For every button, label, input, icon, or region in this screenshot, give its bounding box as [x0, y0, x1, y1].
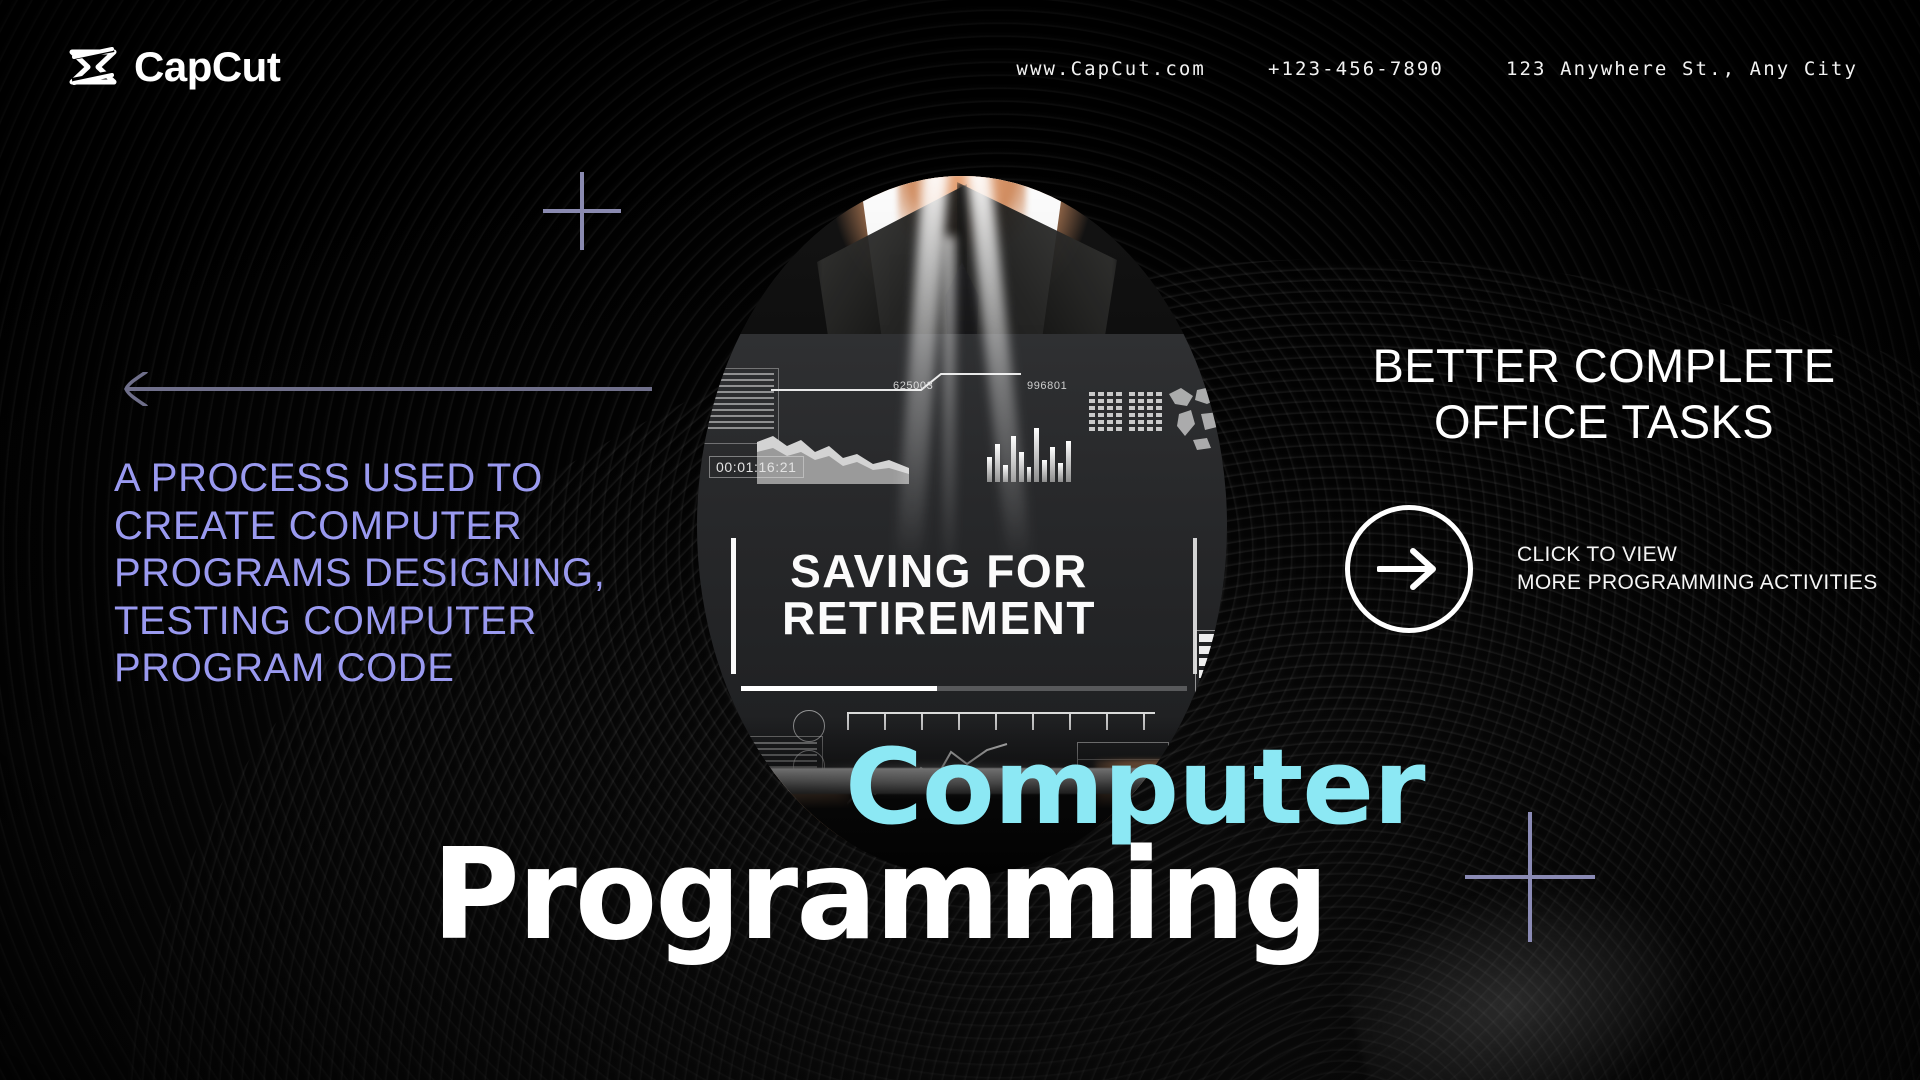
- photo-hud-screen: 625003 996801: [697, 334, 1227, 774]
- phone-number[interactable]: +123-456-7890: [1268, 58, 1444, 80]
- cta-label-line-2: MORE PROGRAMMING ACTIVITIES: [1517, 569, 1878, 597]
- hero-photo: 625003 996801: [697, 176, 1227, 876]
- hud-metric-2: 996801: [1027, 380, 1067, 392]
- cta-group[interactable]: CLICK TO VIEW MORE PROGRAMMING ACTIVITIE…: [1345, 505, 1878, 633]
- cta-label[interactable]: CLICK TO VIEW MORE PROGRAMMING ACTIVITIE…: [1517, 541, 1878, 596]
- cta-label-line-1: CLICK TO VIEW: [1517, 541, 1878, 569]
- website-link[interactable]: www.CapCut.com: [1016, 58, 1206, 80]
- hud-progress-bar: [741, 686, 1187, 691]
- hud-world-map-icon: [1163, 380, 1225, 454]
- photo-bottom-fade: [697, 716, 1227, 876]
- arrow-right-circle-icon[interactable]: [1345, 505, 1473, 633]
- hud-metric-1: 625003: [893, 380, 933, 392]
- right-heading: BETTER COMPLETE OFFICE TASKS: [1344, 338, 1864, 451]
- header-bar: CapCut www.CapCut.com +123-456-7890 123 …: [0, 0, 1920, 128]
- hud-headline: SAVING FOR RETIREMENT: [739, 548, 1139, 643]
- hud-headline-line-2: RETIREMENT: [739, 595, 1139, 642]
- hud-timecode: 00:01:16:21: [709, 456, 804, 478]
- left-description: A PROCESS USED TO CREATE COMPUTER PROGRA…: [114, 455, 634, 693]
- arrow-left-icon: [112, 372, 652, 406]
- hud-bar-chart: [987, 426, 1071, 482]
- hud-title-rule-left: [731, 538, 736, 674]
- brand-logo[interactable]: CapCut: [68, 44, 280, 90]
- poster-canvas: CapCut www.CapCut.com +123-456-7890 123 …: [0, 0, 1920, 1080]
- hud-inner: 625003 996801: [697, 334, 1227, 774]
- arrow-right-icon: [1377, 546, 1441, 592]
- brand-name: CapCut: [134, 46, 280, 88]
- address-text: 123 Anywhere St., Any City: [1506, 58, 1858, 80]
- hud-headline-line-1: SAVING FOR: [739, 548, 1139, 595]
- hud-dot-matrix-1: [1089, 392, 1122, 431]
- capcut-bowtie-icon: [68, 44, 120, 90]
- hud-dot-matrix-2: [1129, 392, 1162, 431]
- contact-info: www.CapCut.com +123-456-7890 123 Anywher…: [1016, 58, 1858, 80]
